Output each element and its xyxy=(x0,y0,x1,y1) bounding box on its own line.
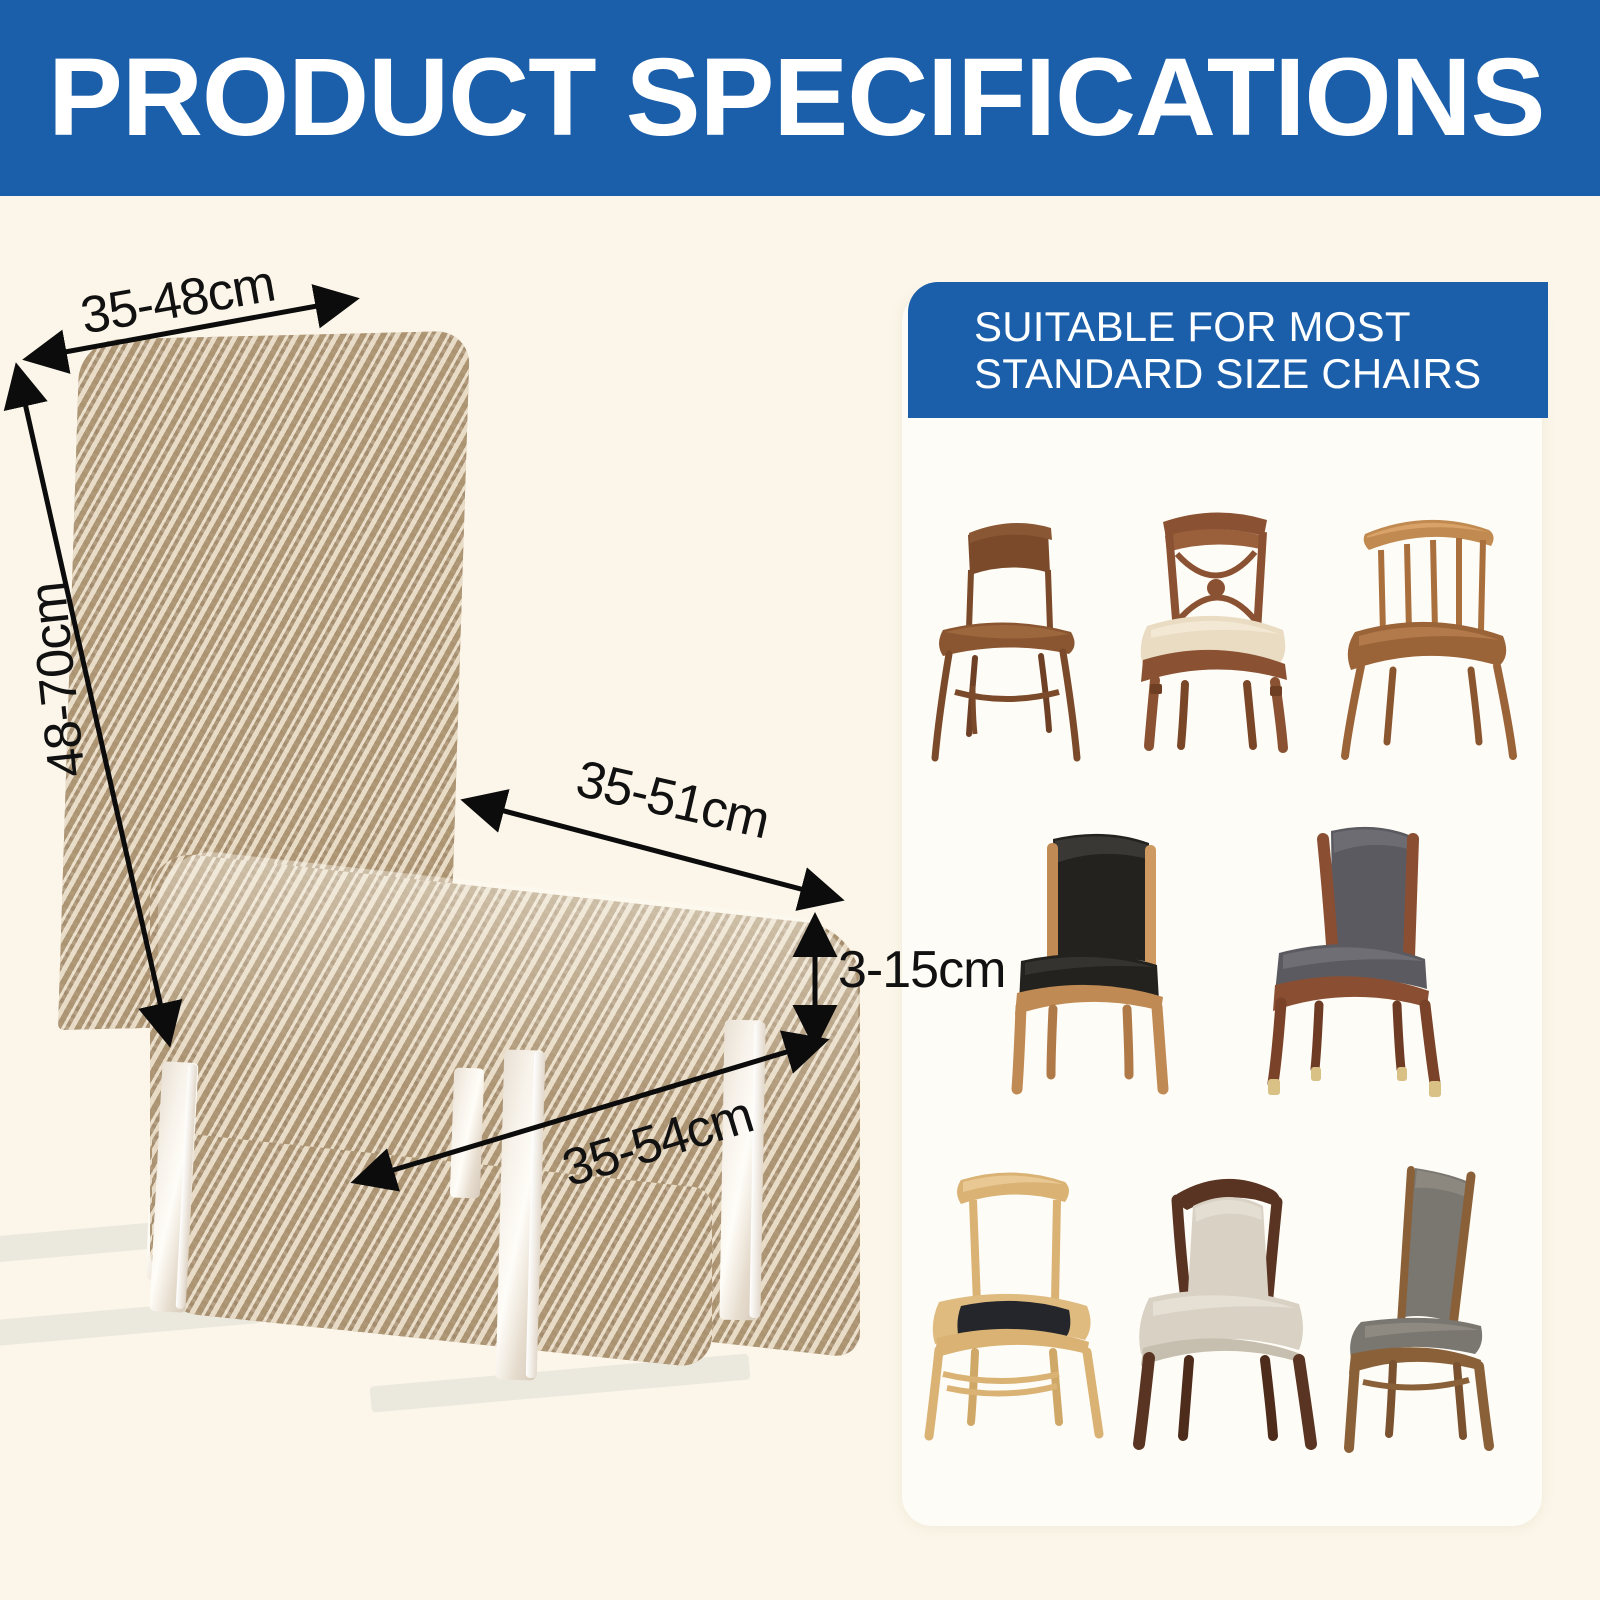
black-leather-chair-icon xyxy=(987,795,1197,1105)
main-chair-illustration: 35-48cm 48-70cm 35-51cm 3-15cm 35-54cm xyxy=(0,250,900,1500)
grey-fabric-chair-icon xyxy=(1257,795,1457,1105)
chair-leg-mid xyxy=(450,1068,485,1199)
infographic-root: PRODUCT SPECIFICATIONS SUITABLE FOR MOST… xyxy=(0,0,1600,1600)
chair-thumb-black-leather-chair xyxy=(987,795,1197,1105)
page-title: PRODUCT SPECIFICATIONS xyxy=(48,43,1544,153)
chair-thumb-slat-back-chair xyxy=(1331,470,1531,770)
suitable-banner-line1: SUITABLE FOR MOST xyxy=(974,303,1481,350)
suitable-banner-line2: STANDARD SIZE CHAIRS xyxy=(974,350,1481,397)
dim-label-back-width: 35-48cm xyxy=(76,253,279,346)
chair-thumb-cross-back-chair xyxy=(1117,470,1317,770)
suitable-for-banner: SUITABLE FOR MOST STANDARD SIZE CHAIRS xyxy=(908,282,1548,418)
bentwood-cafe-chair-icon xyxy=(913,470,1103,770)
dim-label-seat-depth: 35-51cm xyxy=(571,749,775,851)
chair-thumb-bentwood-cafe-chair xyxy=(913,470,1103,770)
chair-gallery-row-1 xyxy=(902,440,1542,770)
cross-back-chair-icon xyxy=(1117,470,1317,770)
birch-bistro-chair-icon xyxy=(917,1150,1117,1470)
dim-label-seat-thickness: 3-15cm xyxy=(838,940,1005,1000)
header-banner: PRODUCT SPECIFICATIONS xyxy=(0,0,1600,196)
cream-dining-chair-icon xyxy=(1127,1150,1327,1470)
chair-thumb-cream-dining-chair xyxy=(1127,1150,1327,1470)
grey-slim-chair-icon xyxy=(1337,1150,1527,1470)
suitable-banner-text: SUITABLE FOR MOST STANDARD SIZE CHAIRS xyxy=(974,303,1481,397)
chair-thumb-birch-bistro-chair xyxy=(917,1150,1117,1470)
chair-gallery-row-3 xyxy=(902,1130,1542,1470)
chair-thumb-grey-slim-chair xyxy=(1337,1150,1527,1470)
chair-thumb-grey-fabric-chair xyxy=(1257,795,1457,1105)
slat-back-chair-icon xyxy=(1331,470,1531,770)
